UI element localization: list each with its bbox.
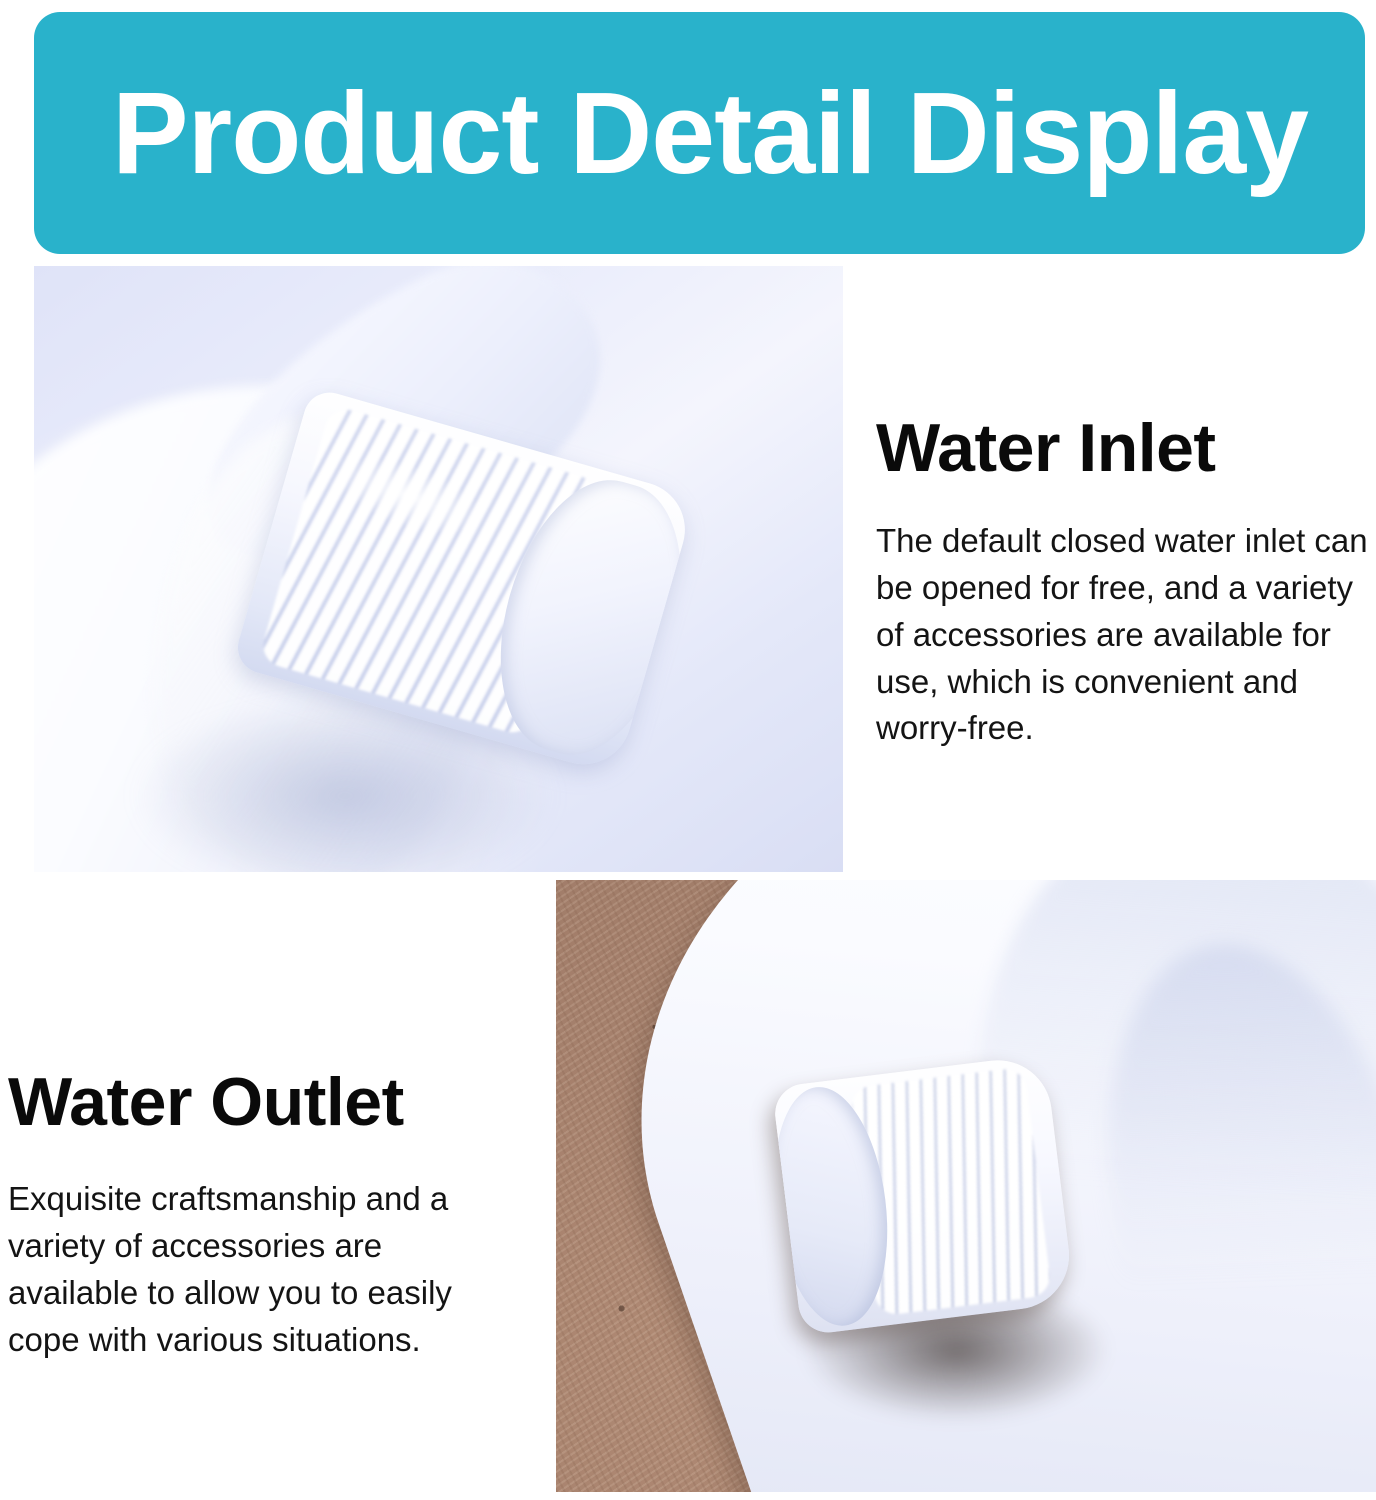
water-outlet-description: Exquisite craftsmanship and a variety of…: [8, 1176, 478, 1363]
page-title: Product Detail Display: [112, 75, 1308, 191]
water-inlet-description: The default closed water inlet can be op…: [876, 518, 1372, 752]
header-banner: Product Detail Display: [34, 12, 1365, 254]
water-outlet-text-block: Water Outlet Exquisite craftsmanship and…: [8, 1068, 548, 1363]
water-inlet-photo: [34, 266, 843, 872]
water-inlet-heading: Water Inlet: [876, 414, 1376, 482]
water-outlet-photo: [556, 880, 1376, 1492]
outlet-nozzle-barrel: [772, 1054, 1075, 1336]
water-outlet-heading: Water Outlet: [8, 1068, 548, 1136]
water-inlet-text-block: Water Inlet The default closed water inl…: [876, 414, 1376, 752]
outlet-nozzle: [772, 1054, 1075, 1336]
